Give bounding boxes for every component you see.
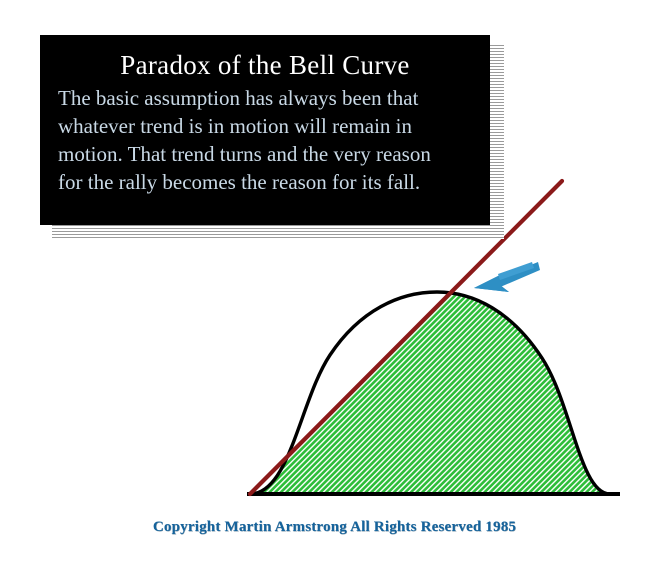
callout-box: Paradox of the Bell Curve The basic assu… (40, 35, 490, 225)
callout-title: Paradox of the Bell Curve (54, 49, 476, 83)
callout-body-line-1: The basic assumption has always been tha… (58, 85, 472, 113)
pointer-arrow (474, 262, 540, 292)
callout-body: The basic assumption has always been tha… (54, 85, 476, 197)
callout-shadow-right (490, 45, 504, 235)
callout-panel: Paradox of the Bell Curve The basic assu… (40, 35, 490, 225)
callout-body-line-4: for the rally becomes the reason for its… (58, 169, 472, 197)
diagram-canvas: Paradox of the Bell Curve The basic assu… (0, 0, 669, 576)
callout-body-line-2: whatever trend is in motion will remain … (58, 113, 472, 141)
callout-body-line-3: motion. That trend turns and the very re… (58, 141, 472, 169)
copyright-caption: Copyright Martin Armstrong All Rights Re… (0, 519, 669, 536)
callout-shadow-bottom (52, 225, 504, 239)
